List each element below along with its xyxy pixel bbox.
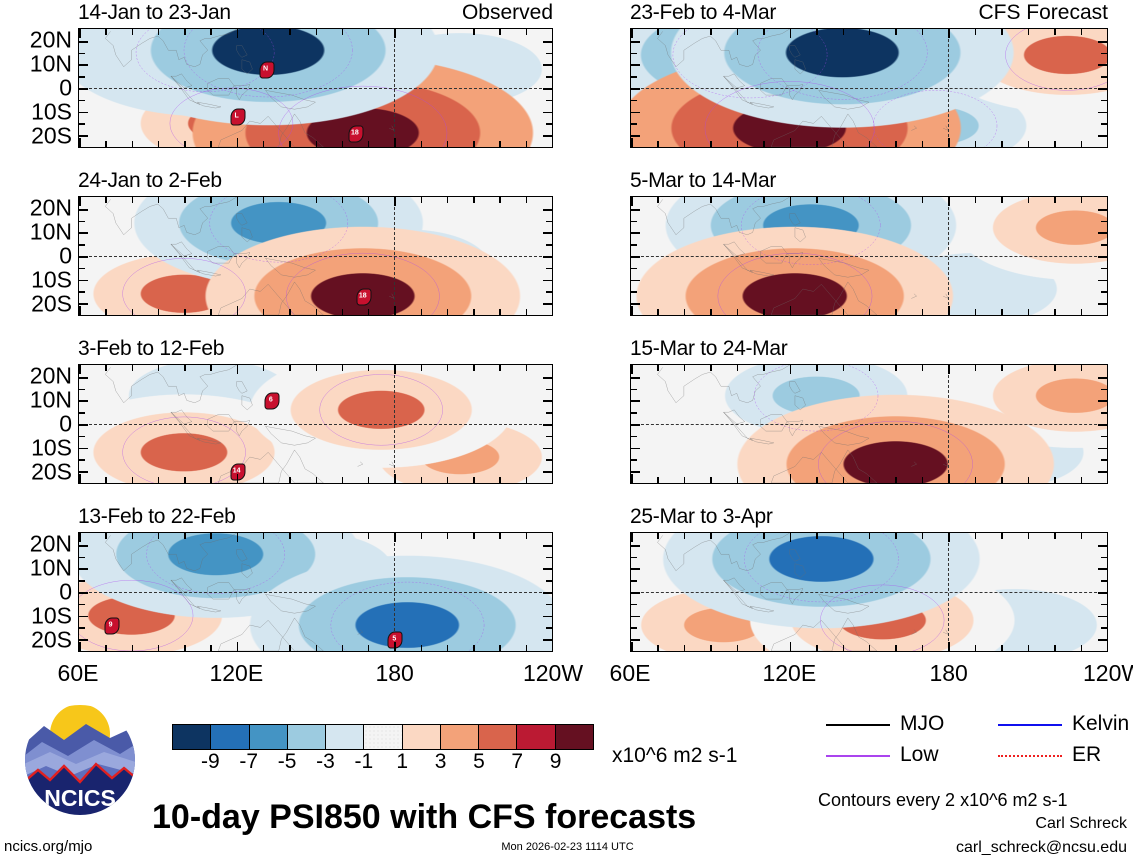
equator-line — [79, 592, 552, 593]
panel-title: 23-Feb to 4-Mar — [630, 2, 776, 24]
y-axis-label: 20N — [0, 533, 72, 556]
equator-line — [631, 256, 1107, 257]
storm-label: 6 — [264, 393, 277, 408]
equator-line — [631, 88, 1107, 89]
x-axis-label: 120W — [1083, 660, 1133, 686]
column-header: Observed — [462, 2, 553, 24]
colorbar — [172, 724, 594, 750]
legend-label: Kelvin x2 — [1072, 711, 1135, 737]
y-axis-label: 20S — [0, 125, 72, 148]
map-panel: 15-Mar to 24-Mar — [630, 364, 1108, 484]
y-axis-label: 10N — [0, 389, 72, 412]
colorbar-cell — [441, 725, 479, 749]
colorbar-cell — [364, 725, 402, 749]
panel-title: 25-Mar to 3-Apr — [630, 506, 773, 528]
timestamp: Mon 2026-02-23 1114 UTC — [0, 840, 1135, 854]
contour-note: Contours every 2 x10^6 m2 s-1 — [818, 790, 1068, 811]
storm-label: L — [230, 109, 243, 124]
colorbar-tick: 9 — [550, 750, 562, 774]
equator-line — [79, 256, 552, 257]
panel-title: 13-Feb to 22-Feb — [78, 506, 235, 528]
y-axis-label: 0 — [0, 245, 72, 268]
storm-marker[interactable]: 9 — [104, 618, 117, 633]
panel-column-observed: 14-Jan to 23-JanObservedNL1820N10N010S20… — [0, 0, 560, 690]
colorbar-cell — [326, 725, 364, 749]
x-axis-labels: 60E120E180120W — [630, 660, 1108, 690]
legend: MJOLowKelvin x2ER — [826, 712, 1126, 774]
equator-line — [79, 424, 552, 425]
y-axis-label: 10S — [0, 269, 72, 292]
x-axis-labels: 60E120E180120W — [78, 660, 553, 690]
dateline-meridian — [948, 197, 949, 315]
map-panel: 3-Feb to 12-Feb61420N10N010S20S — [78, 364, 553, 484]
colorbar-tick: -3 — [316, 750, 335, 774]
y-axis-label: 20N — [0, 29, 72, 52]
legend-line-swatch — [826, 724, 890, 726]
map-panel: 23-Feb to 4-MarCFS Forecast — [630, 28, 1108, 148]
dateline-meridian — [394, 197, 395, 315]
dateline-meridian — [948, 533, 949, 651]
y-axis-label: 20S — [0, 293, 72, 316]
storm-label: 18 — [356, 289, 369, 304]
y-axis-label: 20N — [0, 197, 72, 220]
dateline-meridian — [394, 29, 395, 147]
colorbar-ticks: -9-7-5-3-113579 — [172, 750, 594, 776]
colorbar-cell — [517, 725, 555, 749]
legend-label: Low — [900, 742, 939, 768]
panel-title: 24-Jan to 2-Feb — [78, 170, 222, 192]
map-canvas[interactable]: 18 — [78, 196, 553, 316]
x-axis-label: 120E — [762, 660, 816, 686]
equator-line — [631, 592, 1107, 593]
storm-marker[interactable]: 18 — [356, 289, 369, 304]
map-canvas[interactable] — [630, 532, 1108, 652]
colorbar-cell — [288, 725, 326, 749]
map-canvas[interactable]: NL18 — [78, 28, 553, 148]
y-axis-label: 0 — [0, 581, 72, 604]
author-name: Carl Schreck — [1035, 814, 1127, 833]
colorbar-cell — [556, 725, 593, 749]
colorbar-unit-label: x10^6 m2 s-1 — [612, 745, 737, 767]
ncics-logo: NCICS — [24, 704, 136, 816]
colorbar-tick: 5 — [473, 750, 485, 774]
storm-label: 18 — [348, 125, 361, 140]
colorbar-cell — [403, 725, 441, 749]
equator-line — [631, 424, 1107, 425]
legend-label: ER — [1072, 742, 1101, 768]
y-axis-label: 10S — [0, 605, 72, 628]
storm-marker[interactable]: 18 — [348, 125, 361, 140]
storm-marker[interactable]: N — [259, 62, 272, 77]
column-header: CFS Forecast — [978, 2, 1108, 24]
x-axis-label: 180 — [375, 660, 413, 686]
equator-line — [79, 88, 552, 89]
y-axis-label: 10S — [0, 437, 72, 460]
colorbar-tick: 3 — [435, 750, 447, 774]
storm-marker[interactable]: 6 — [264, 393, 277, 408]
colorbar-tick: -1 — [354, 750, 373, 774]
legend-line-swatch — [998, 724, 1062, 726]
map-canvas[interactable] — [630, 196, 1108, 316]
figure-title: 10-day PSI850 with CFS forecasts — [152, 798, 696, 836]
x-axis-label: 120E — [209, 660, 263, 686]
storm-label: 5 — [388, 632, 401, 647]
panel-title: 15-Mar to 24-Mar — [630, 338, 787, 360]
y-axis-label: 0 — [0, 77, 72, 100]
legend-label: MJO — [900, 711, 944, 737]
map-panel: 13-Feb to 22-Feb9520N10N010S20S60E120E18… — [78, 532, 553, 652]
y-axis-label: 0 — [0, 413, 72, 436]
storm-marker[interactable]: 14 — [230, 464, 243, 479]
map-canvas[interactable] — [630, 364, 1108, 484]
x-axis-label: 180 — [929, 660, 967, 686]
colorbar-cell — [479, 725, 517, 749]
colorbar-tick: -5 — [278, 750, 297, 774]
legend-line-swatch — [826, 755, 890, 757]
map-canvas[interactable]: 95 — [78, 532, 553, 652]
dateline-meridian — [948, 29, 949, 147]
panel-title: 5-Mar to 14-Mar — [630, 170, 776, 192]
storm-label: 9 — [104, 618, 117, 633]
colorbar-tick: -7 — [239, 750, 258, 774]
colorbar-cell — [211, 725, 249, 749]
panel-title: 14-Jan to 23-Jan — [78, 2, 231, 24]
y-axis-label: 20S — [0, 629, 72, 652]
panel-column-forecast: 23-Feb to 4-MarCFS Forecast5-Mar to 14-M… — [575, 0, 1135, 690]
y-axis-label: 10N — [0, 557, 72, 580]
colorbar-cell — [173, 725, 211, 749]
y-axis-label: 10N — [0, 221, 72, 244]
panel-grid: 14-Jan to 23-JanObservedNL1820N10N010S20… — [0, 0, 1135, 690]
y-axis-label: 10N — [0, 53, 72, 76]
y-axis-label: 20S — [0, 461, 72, 484]
storm-label: 14 — [230, 464, 243, 479]
map-panel: 5-Mar to 14-Mar — [630, 196, 1108, 316]
map-canvas[interactable]: 614 — [78, 364, 553, 484]
dateline-meridian — [394, 365, 395, 483]
y-axis-label: 20N — [0, 365, 72, 388]
x-axis-label: 60E — [610, 660, 651, 686]
x-axis-label: 60E — [58, 660, 99, 686]
storm-marker[interactable]: L — [230, 109, 243, 124]
map-canvas[interactable] — [630, 28, 1108, 148]
legend-line-swatch — [998, 755, 1062, 757]
y-axis-label: 10S — [0, 101, 72, 124]
colorbar-tick: 7 — [511, 750, 523, 774]
storm-marker[interactable]: 5 — [388, 632, 401, 647]
storm-label: N — [259, 62, 272, 77]
dateline-meridian — [948, 365, 949, 483]
logo-text: NCICS — [44, 785, 116, 811]
colorbar-cell — [250, 725, 288, 749]
colorbar-tick: 1 — [396, 750, 408, 774]
map-panel: 24-Jan to 2-Feb1820N10N010S20S — [78, 196, 553, 316]
map-panel: 25-Mar to 3-Apr60E120E180120W — [630, 532, 1108, 652]
panel-title: 3-Feb to 12-Feb — [78, 338, 224, 360]
map-panel: 14-Jan to 23-JanObservedNL1820N10N010S20… — [78, 28, 553, 148]
colorbar-tick: -9 — [201, 750, 220, 774]
